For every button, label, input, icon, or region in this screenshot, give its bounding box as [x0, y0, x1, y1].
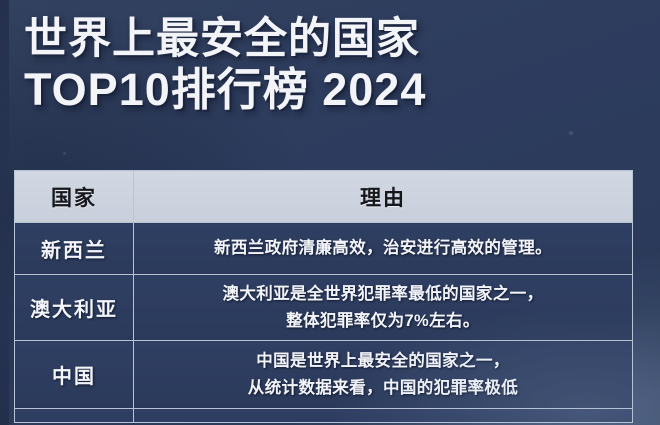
poster-title: 世界上最安全的国家 TOP10排行榜 2024 [24, 16, 636, 115]
reason-line: 整体犯罪率仅为7%左右。 [134, 308, 632, 335]
reason-line: 从统计数据来看，中国的犯罪率极低 [134, 375, 632, 402]
table-row: 澳大利亚 澳大利亚是全世界犯罪率最低的国家之一， 整体犯罪率仅为7%左右。 [15, 275, 633, 341]
cell-reason: 中国是世界上最安全的国家之一， 从统计数据来看，中国的犯罪率极低 [134, 341, 633, 409]
cell-country: 澳大利亚 [15, 275, 134, 341]
bokeh-speck [63, 152, 66, 155]
cell-country-truncated [15, 409, 134, 423]
left-edge-strip [0, 0, 9, 425]
column-header-reason: 理由 [134, 171, 633, 223]
poster-root: 世界上最安全的国家 TOP10排行榜 2024 国家 理由 新西兰 新西兰政府清… [0, 0, 660, 425]
cell-reason: 新西兰政府清廉高效，治安进行高效的管理。 [134, 223, 633, 275]
table-row: 中国 中国是世界上最安全的国家之一， 从统计数据来看，中国的犯罪率极低 [15, 341, 633, 409]
reason-line: 澳大利亚是全世界犯罪率最低的国家之一， [134, 281, 632, 308]
cell-reason-truncated [134, 409, 633, 423]
table-row: 新西兰 新西兰政府清廉高效，治安进行高效的管理。 [15, 223, 633, 275]
table-header-row: 国家 理由 [15, 171, 633, 223]
reason-line: 中国是世界上最安全的国家之一， [134, 348, 632, 375]
reason-line: 新西兰政府清廉高效，治安进行高效的管理。 [134, 235, 632, 262]
column-header-country: 国家 [15, 171, 134, 223]
bokeh-speck [569, 131, 573, 135]
cell-country: 中国 [15, 341, 134, 409]
ranking-table: 国家 理由 新西兰 新西兰政府清廉高效，治安进行高效的管理。 澳大利亚 澳大利亚… [14, 170, 633, 423]
cell-country: 新西兰 [15, 223, 134, 275]
title-line-secondary: TOP10排行榜 2024 [24, 66, 636, 115]
title-line-primary: 世界上最安全的国家 [24, 16, 636, 62]
cell-reason: 澳大利亚是全世界犯罪率最低的国家之一， 整体犯罪率仅为7%左右。 [134, 275, 633, 341]
table-row-truncated [15, 409, 633, 423]
